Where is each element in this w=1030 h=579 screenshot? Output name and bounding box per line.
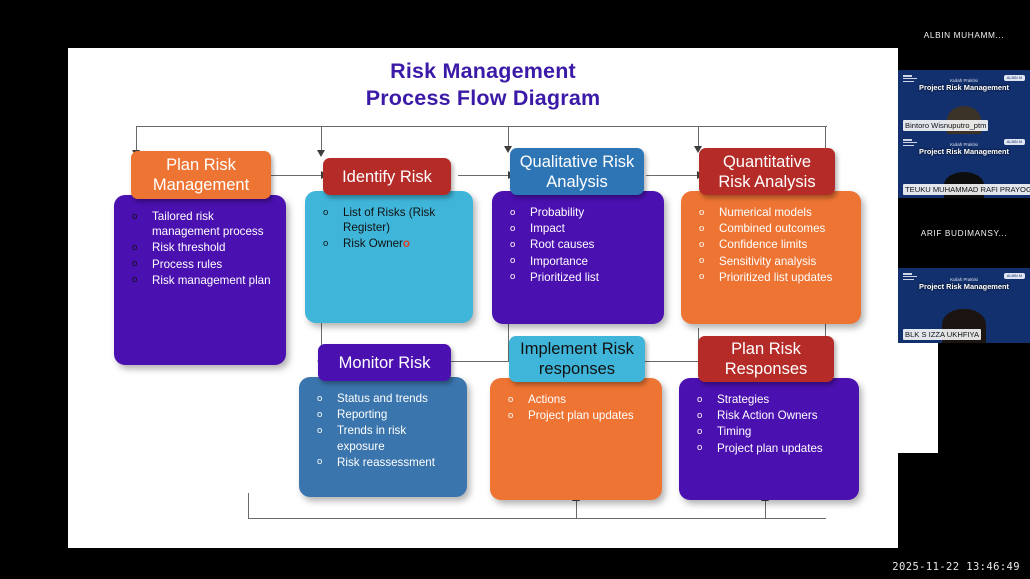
participant-name: ARIF BUDIMANSY... [898, 228, 1030, 238]
list-item: Probability [504, 205, 654, 220]
participant-tile[interactable]: ALBIN MUHAMM... [898, 0, 1030, 70]
list-item: Project plan updates [502, 408, 652, 423]
connector-qualitative-to-quantitative [646, 175, 699, 176]
node-header-plan-risk-management[interactable]: Plan Risk Management [131, 151, 271, 199]
node-header-label: Qualitative Risk Analysis [516, 152, 638, 192]
participant-tile[interactable]: ALBIN M Kuliah Praktisi Project Risk Man… [898, 70, 1030, 134]
node-body-monitor-risk: Status and trends Reporting Trends in ri… [299, 377, 467, 497]
participant-name: ALBIN MUHAMM... [898, 30, 1030, 40]
rail-white-gap [898, 343, 938, 453]
thumb-title-big: Project Risk Management [898, 282, 1030, 291]
node-header-label: Monitor Risk [339, 353, 431, 373]
list-item: Reporting [311, 407, 457, 422]
list-item: Importance [504, 254, 654, 269]
connector-identify-to-qualitative [458, 175, 510, 176]
connector-monitor-down [248, 493, 249, 518]
status-timestamp: 2025-11-22 13:46:49 [892, 561, 1020, 573]
node-header-label: Implement Risk responses [515, 339, 639, 379]
shared-slide-thumbnail-title: Kuliah Praktisi Project Risk Management [898, 142, 1030, 156]
list-item: Risk reassessment [311, 455, 457, 470]
node-header-qualitative-risk-analysis[interactable]: Qualitative Risk Analysis [510, 148, 644, 195]
connector-plan-to-identify [270, 175, 323, 176]
participant-name: TEUKU MUHAMMAD RAFI PRAYOGI [903, 184, 1030, 195]
list-item: Prioritized list [504, 270, 654, 285]
shared-slide: Risk Management Process Flow Diagram [68, 48, 898, 548]
participant-name: BLK S IZZA UKHFIYA [903, 329, 981, 340]
list-item: Risk Ownero [317, 236, 463, 251]
thumb-title-big: Project Risk Management [898, 83, 1030, 92]
list-item: Tailored risk management process [126, 209, 276, 239]
node-body-quantitative-risk-analysis: Numerical models Combined outcomes Confi… [681, 191, 861, 324]
participant-tile[interactable]: ARIF BUDIMANSY... [898, 198, 1030, 268]
list-item: Actions [502, 392, 652, 407]
connector-top-to-qualitative [508, 126, 509, 148]
title-line-2: Process Flow Diagram [68, 85, 898, 112]
connector-bottom-bus [248, 518, 826, 519]
list-item: Status and trends [311, 391, 457, 406]
arrow-into-identify-risk [317, 150, 325, 157]
page-title: Risk Management Process Flow Diagram [68, 58, 898, 112]
participant-tile[interactable]: ALBIN M Kuliah Praktisi Project Risk Man… [898, 134, 1030, 198]
connector-top-to-plan [136, 126, 137, 152]
node-header-label: Plan Risk Responses [704, 339, 828, 379]
node-header-monitor-risk[interactable]: Monitor Risk [318, 344, 451, 381]
list-item: Impact [504, 221, 654, 236]
connector-top-bus [136, 126, 826, 127]
node-header-quantitative-risk-analysis[interactable]: Quantitative Risk Analysis [699, 148, 835, 195]
mouse-cursor-marker: o [403, 237, 410, 250]
screen-capture: Risk Management Process Flow Diagram [0, 0, 1030, 579]
participant-name: Bintoro Wisnuputro_ptm [903, 120, 988, 131]
list-item: Process rules [126, 257, 276, 272]
thumb-title-small: Kuliah Praktisi [898, 142, 1030, 147]
connector-top-to-quantitative [698, 126, 699, 148]
connector-bottom-to-plan-responses [765, 500, 766, 518]
connector-top-to-identify [321, 126, 322, 152]
node-body-implement-risk-responses: Actions Project plan updates [490, 378, 662, 500]
list-item: Timing [691, 424, 849, 439]
participant-rail[interactable]: ALBIN MUHAMM... ALBIN M Kuliah Praktisi … [898, 0, 1030, 579]
node-body-plan-risk-management: Tailored risk management process Risk th… [114, 195, 286, 365]
list-item: Risk threshold [126, 240, 276, 255]
thumb-title-big: Project Risk Management [898, 147, 1030, 156]
node-header-label: Identify Risk [342, 167, 432, 187]
thumb-title-small: Kuliah Praktisi [898, 277, 1030, 282]
list-item: Confidence limits [693, 237, 851, 252]
list-item: Risk Action Owners [691, 408, 849, 423]
node-header-implement-risk-responses[interactable]: Implement Risk responses [509, 336, 645, 382]
list-item: Risk management plan [126, 273, 276, 288]
list-item-text: Risk Owner [343, 237, 403, 250]
node-body-qualitative-risk-analysis: Probability Impact Root causes Importanc… [492, 191, 664, 324]
title-line-1: Risk Management [68, 58, 898, 85]
node-body-plan-risk-responses: Strategies Risk Action Owners Timing Pro… [679, 378, 859, 500]
shared-slide-thumbnail-title: Kuliah Praktisi Project Risk Management [898, 277, 1030, 291]
list-item: Sensitivity analysis [693, 254, 851, 269]
list-item: List of Risks (Risk Register) [317, 205, 463, 235]
list-item: Project plan updates [691, 441, 849, 456]
node-body-identify-risk: List of Risks (Risk Register) Risk Owner… [305, 191, 473, 323]
shared-slide-thumbnail-title: Kuliah Praktisi Project Risk Management [898, 78, 1030, 92]
list-item: Numerical models [693, 205, 851, 220]
thumb-title-small: Kuliah Praktisi [898, 78, 1030, 83]
list-item: Trends in risk exposure [311, 423, 457, 453]
connector-bottom-to-implement [576, 500, 577, 518]
list-item: Combined outcomes [693, 221, 851, 236]
list-item: Strategies [691, 392, 849, 407]
list-item-text: List of Risks (Risk Register) [343, 206, 435, 234]
node-header-plan-risk-responses[interactable]: Plan Risk Responses [698, 336, 834, 382]
node-header-label: Plan Risk Management [137, 155, 265, 195]
participant-tile[interactable]: ALBIN M Kuliah Praktisi Project Risk Man… [898, 268, 1030, 343]
list-item: Root causes [504, 237, 654, 252]
node-header-identify-risk[interactable]: Identify Risk [323, 158, 451, 195]
list-item: Prioritized list updates [693, 270, 851, 285]
node-header-label: Quantitative Risk Analysis [705, 152, 829, 192]
